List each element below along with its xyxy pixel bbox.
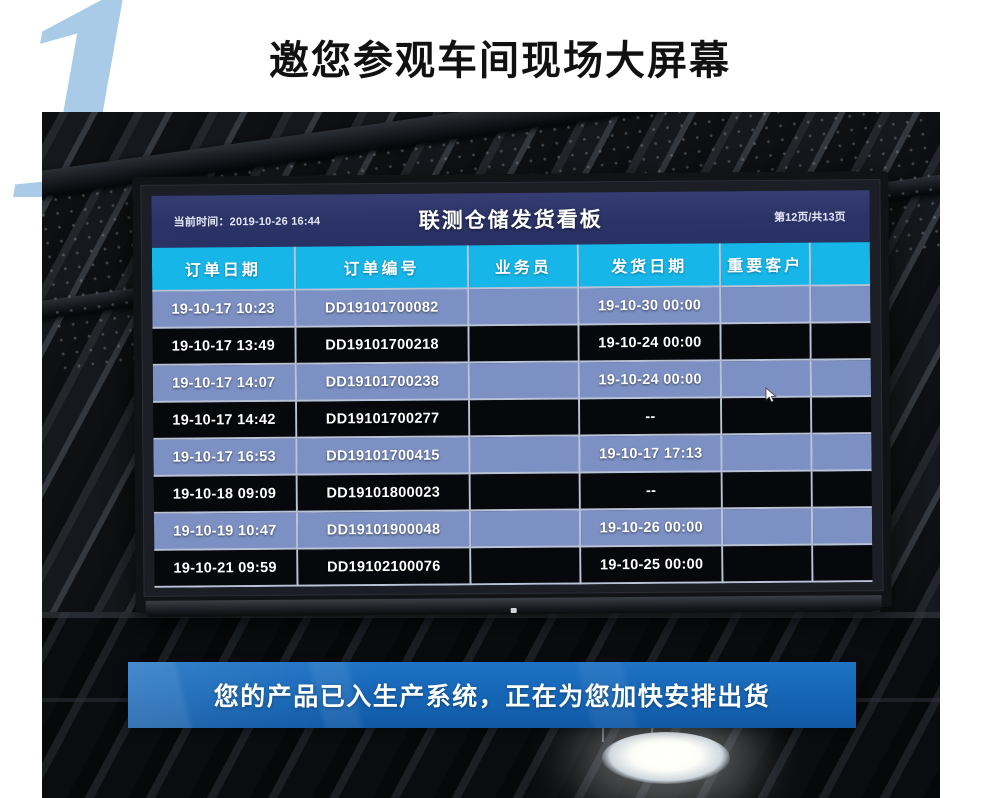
page-title: 邀您参观车间现场大屏幕 bbox=[0, 28, 1000, 86]
cell-key-customer bbox=[724, 546, 814, 584]
table-row: 19-10-17 13:49 DD19101700218 19-10-24 00… bbox=[152, 323, 870, 366]
cell-salesperson bbox=[470, 288, 580, 326]
cell-ship-date: 19-10-26 00:00 bbox=[581, 509, 723, 547]
pagination-indicator: 第12页/共13页 bbox=[774, 208, 846, 225]
column-header-salesperson: 业务员 bbox=[469, 244, 579, 289]
wall-display-tv: 当前时间：2019-10-26 16:44 联测仓储发货看板 第12页/共13页… bbox=[132, 171, 891, 613]
cell-order-date: 19-10-18 09:09 bbox=[154, 476, 298, 514]
cell-key-customer bbox=[722, 324, 812, 362]
table-row: 19-10-17 16:53 DD19101700415 19-10-17 17… bbox=[153, 434, 871, 477]
cell-extra bbox=[812, 434, 871, 471]
cell-order-no: DD19101800023 bbox=[297, 474, 471, 512]
cell-ship-date: -- bbox=[580, 398, 722, 436]
cell-key-customer bbox=[723, 472, 813, 510]
dashboard-screen: 当前时间：2019-10-26 16:44 联测仓储发货看板 第12页/共13页… bbox=[151, 190, 872, 588]
cell-extra bbox=[812, 397, 871, 434]
column-header-order-no: 订单编号 bbox=[295, 245, 469, 290]
cell-order-date: 19-10-17 13:49 bbox=[152, 328, 296, 366]
column-header-order-date: 订单日期 bbox=[152, 247, 296, 292]
cell-extra bbox=[811, 286, 870, 323]
cell-order-no: DD19101700277 bbox=[297, 400, 471, 438]
current-time-label: 当前时间：2019-10-26 16:44 bbox=[174, 213, 321, 230]
cell-extra bbox=[812, 323, 871, 360]
cell-order-date: 19-10-17 14:07 bbox=[153, 365, 297, 403]
table-row: 19-10-18 09:09 DD19101800023 -- bbox=[154, 471, 872, 514]
table-row: 19-10-17 10:23 DD19101700082 19-10-30 00… bbox=[152, 286, 870, 329]
ceiling-lamp bbox=[602, 732, 730, 784]
table-row: 19-10-21 09:59 DD19102100076 19-10-25 00… bbox=[154, 545, 872, 588]
cell-salesperson bbox=[470, 399, 580, 437]
table-header-row: 订单日期 订单编号 业务员 发货日期 重要客户 bbox=[152, 242, 870, 292]
cell-order-no: DD19101700082 bbox=[296, 289, 470, 327]
cell-key-customer bbox=[723, 435, 813, 473]
cell-order-date: 19-10-21 09:59 bbox=[154, 550, 298, 588]
dashboard-header: 当前时间：2019-10-26 16:44 联测仓储发货看板 第12页/共13页 bbox=[151, 190, 869, 248]
cell-extra bbox=[812, 360, 871, 397]
cell-key-customer bbox=[723, 509, 813, 547]
cell-ship-date: 19-10-30 00:00 bbox=[579, 287, 721, 325]
cell-salesperson bbox=[471, 436, 581, 474]
cell-ship-date: 19-10-24 00:00 bbox=[580, 361, 722, 399]
bottom-banner: 您的产品已入生产系统，正在为您加快安排出货 bbox=[128, 662, 856, 728]
banner-text: 您的产品已入生产系统，正在为您加快安排出货 bbox=[214, 677, 771, 713]
column-header-extra bbox=[811, 242, 870, 286]
cell-key-customer bbox=[722, 361, 812, 399]
cell-order-date: 19-10-17 16:53 bbox=[153, 439, 297, 477]
cell-salesperson bbox=[470, 362, 580, 400]
cell-salesperson bbox=[470, 325, 580, 363]
cell-key-customer bbox=[722, 287, 812, 325]
cell-salesperson bbox=[471, 473, 581, 511]
cell-order-no: DD19101900048 bbox=[298, 511, 472, 549]
cell-key-customer bbox=[722, 398, 812, 436]
cell-ship-date: -- bbox=[581, 472, 723, 510]
shipment-board-table: 订单日期 订单编号 业务员 发货日期 重要客户 19-10-17 10:23 D… bbox=[152, 242, 873, 588]
cell-order-no: DD19101700415 bbox=[297, 437, 471, 475]
column-header-ship-date: 发货日期 bbox=[579, 243, 721, 288]
cell-extra bbox=[813, 508, 872, 545]
cell-extra bbox=[813, 545, 872, 582]
cell-order-date: 19-10-17 10:23 bbox=[152, 291, 296, 329]
tv-power-led-icon bbox=[511, 608, 517, 613]
cell-extra bbox=[813, 471, 872, 508]
table-row: 19-10-17 14:42 DD19101700277 -- bbox=[153, 397, 871, 440]
table-row: 19-10-19 10:47 DD19101900048 19-10-26 00… bbox=[154, 508, 872, 551]
tv-bezel: 当前时间：2019-10-26 16:44 联测仓储发货看板 第12页/共13页… bbox=[140, 179, 883, 597]
column-header-key-customer: 重要客户 bbox=[721, 243, 811, 288]
cell-order-no: DD19102100076 bbox=[298, 548, 472, 586]
cell-order-date: 19-10-19 10:47 bbox=[154, 513, 298, 551]
cell-salesperson bbox=[471, 510, 581, 548]
cell-salesperson bbox=[472, 547, 582, 585]
cell-order-date: 19-10-17 14:42 bbox=[153, 402, 297, 440]
cell-ship-date: 19-10-24 00:00 bbox=[580, 324, 722, 362]
table-row: 19-10-17 14:07 DD19101700238 19-10-24 00… bbox=[153, 360, 871, 403]
cell-order-no: DD19101700238 bbox=[296, 363, 470, 401]
cell-ship-date: 19-10-17 17:13 bbox=[581, 435, 723, 473]
cell-order-no: DD19101700218 bbox=[296, 326, 470, 364]
cell-ship-date: 19-10-25 00:00 bbox=[581, 546, 723, 584]
